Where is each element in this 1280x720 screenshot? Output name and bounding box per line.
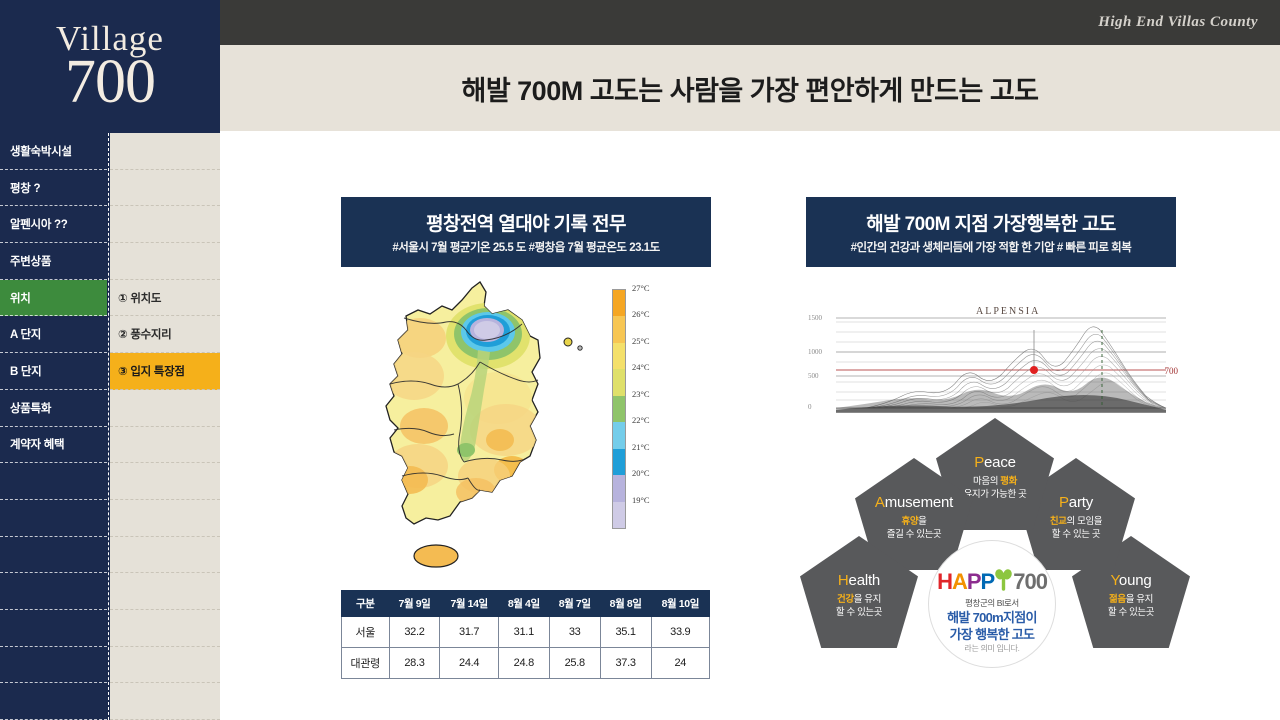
table-cell: 32.2 xyxy=(389,617,440,648)
table-col-header-3: 7월 14일 xyxy=(440,591,498,617)
sidebar-item-empty-10 xyxy=(0,463,107,500)
elevation-svg xyxy=(806,300,1176,418)
legend-swatch-7: 21°C xyxy=(613,449,625,475)
legend-swatch-4: 24°C xyxy=(613,369,625,395)
legend-label-3: 25°C xyxy=(632,336,650,346)
sidebar-item-label: 주변상품 xyxy=(10,253,51,269)
table-row-label: 대관령 xyxy=(342,648,390,679)
sidebar-item-empty-11 xyxy=(0,500,107,537)
logo-letter-p1: P xyxy=(967,571,981,593)
legend-label-4: 24°C xyxy=(632,362,650,372)
legend-swatch-6: 22°C xyxy=(613,422,625,448)
sidebar-subitem-label: ③ 입지 특장점 xyxy=(118,363,185,379)
table-cell: 24 xyxy=(651,648,709,679)
table-col-header-6: 8월 8일 xyxy=(600,591,651,617)
sidebar-item-label: 위치 xyxy=(10,290,31,306)
sidebar-subitem-empty-15 xyxy=(110,647,220,684)
happy700-main-line2: 가장 행복한 고도 xyxy=(950,627,1035,643)
sidebar-sub-panel: ① 위치도② 풍수지리③ 입지 특장점 xyxy=(110,133,220,720)
pentagon-peace-title: Peace xyxy=(974,454,1016,471)
legend-label-1: 27°C xyxy=(632,283,650,293)
legend-swatch-9: 19°C xyxy=(613,502,625,528)
legend-swatch-3: 25°C xyxy=(613,343,625,369)
elevation-ytick-1000: 1000 xyxy=(808,348,822,356)
panel-right-subtitle: #인간의 건강과 생체리듬에 가장 적합 한 기압 # 빠른 피로 회복 xyxy=(851,239,1132,255)
panel-right-title: 해발 700M 지점 가장행복한 고도 xyxy=(866,209,1116,236)
logo[interactable]: Village 700 xyxy=(0,0,220,133)
pentagon-health-description: 건강을 유지할 수 있는곳 xyxy=(836,594,882,620)
pentagon-party-title: Party xyxy=(1059,494,1093,511)
panel-right-header: 해발 700M 지점 가장행복한 고도 #인간의 건강과 생체리듬에 가장 적합… xyxy=(806,197,1176,267)
sidebar-subitem-empty-16 xyxy=(110,683,220,720)
sidebar-item-label: A 단지 xyxy=(10,326,41,342)
sidebar-item-3[interactable]: 알펜시아 ?? xyxy=(0,206,107,243)
sidebar-subitem-empty-3 xyxy=(110,206,220,243)
logo-letter-h: H xyxy=(937,571,952,593)
sidebar-subitem-label: ② 풍수지리 xyxy=(118,326,171,342)
legend-label-9: 19°C xyxy=(632,495,650,505)
elevation-ytick-1500: 1500 xyxy=(808,314,822,322)
sidebar-item-empty-16 xyxy=(0,683,107,720)
sidebar-subitem-6[interactable]: ② 풍수지리 xyxy=(110,316,220,353)
map-ulleungdo-island xyxy=(564,338,572,346)
legend-label-2: 26°C xyxy=(632,309,650,319)
legend-label-7: 21°C xyxy=(632,442,650,452)
legend-swatch-8: 20°C xyxy=(613,475,625,501)
map-dokdo-island xyxy=(578,346,582,350)
brand-tagline: High End Villas County xyxy=(1098,14,1258,31)
legend-swatch-5: 23°C xyxy=(613,396,625,422)
pentagon-young-title: Young xyxy=(1110,572,1151,589)
table-row-label: 서울 xyxy=(342,617,390,648)
logo-letter-a: A xyxy=(952,571,967,593)
happy700-footnote: 라는 의미 입니다. xyxy=(964,643,1019,654)
temperature-table: 구분7월 9일7월 14일8월 4일8월 7일8월 8일8월 10일 서울32.… xyxy=(341,590,710,679)
table-cell: 25.8 xyxy=(549,648,600,679)
sidebar-item-4[interactable]: 주변상품 xyxy=(0,243,107,280)
table-col-header-2: 7월 9일 xyxy=(389,591,440,617)
sidebar-subitem-5[interactable]: ① 위치도 xyxy=(110,280,220,317)
table-cell: 31.7 xyxy=(440,617,498,648)
table-col-header-1: 구분 xyxy=(342,591,390,617)
sidebar-item-9[interactable]: 계약자 혜택 xyxy=(0,427,107,464)
sidebar-subitem-empty-2 xyxy=(110,170,220,207)
pentagon-peace-description: 마음의 평화유지가 가능한 곳 xyxy=(964,476,1027,502)
table-col-header-5: 8월 7일 xyxy=(549,591,600,617)
legend-label-6: 22°C xyxy=(632,415,650,425)
sidebar-item-empty-15 xyxy=(0,647,107,684)
slide-root: ① 위치도② 풍수지리③ 입지 특장점 생활숙박시설평창 ?알펜시아 ??주변상… xyxy=(0,0,1280,720)
page-title: 해발 700M 고도는 사람을 가장 편안하게 만드는 고도 xyxy=(461,69,1038,108)
sidebar-subitem-label: ① 위치도 xyxy=(118,290,161,306)
table-cell: 24.8 xyxy=(498,648,549,679)
top-bar: High End Villas County xyxy=(220,0,1280,45)
legend-label-5: 23°C xyxy=(632,389,650,399)
happy700-logo: H A P P 700 xyxy=(937,569,1047,595)
legend-swatch-2: 26°C xyxy=(613,316,625,342)
happy700-pentagon-diagram: Young젊음을 유지할 수 있는곳Party친교의 모임을할 수 있는 곳Pe… xyxy=(800,418,1190,680)
sidebar-subitem-empty-13 xyxy=(110,573,220,610)
table-cell: 35.1 xyxy=(600,617,651,648)
sidebar-item-1[interactable]: 생활숙박시설 xyxy=(0,133,107,170)
map-jeju-island xyxy=(414,545,458,567)
table-cell: 33.9 xyxy=(651,617,709,648)
happy700-center-badge: H A P P 700 평창군의 BI로서 해발 700m지점이 가장 행복한 … xyxy=(928,540,1056,668)
legend-swatch-1: 27°C xyxy=(613,290,625,316)
pentagon-young-description: 젊음을 유지할 수 있는곳 xyxy=(1108,594,1154,620)
sidebar-divider-dashed xyxy=(108,133,109,720)
logo-700-text: 700 xyxy=(65,54,155,111)
logo-letter-p2: P xyxy=(981,571,995,593)
sidebar-item-label: B 단지 xyxy=(10,363,41,379)
sidebar-subitem-empty-14 xyxy=(110,610,220,647)
panel-left-subtitle: #서울시 7월 평균기온 25.5 도 #평창읍 7월 평균온도 23.1도 xyxy=(392,239,659,255)
sidebar-nav-list: 생활숙박시설평창 ?알펜시아 ??주변상품위치A 단지B 단지상품특화계약자 혜… xyxy=(0,133,107,720)
table-cell: 31.1 xyxy=(498,617,549,648)
logo-number-700: 700 xyxy=(1013,571,1047,593)
elevation-profile-chart: ALPENSIA 700 1500 1000 500 0 xyxy=(806,300,1176,418)
table-cell: 33 xyxy=(549,617,600,648)
happy700-main-line1: 해발 700m지점이 xyxy=(947,610,1037,626)
sidebar-item-label: 생활숙박시설 xyxy=(10,143,72,159)
table-col-header-4: 8월 4일 xyxy=(498,591,549,617)
sidebar-item-8[interactable]: 상품특화 xyxy=(0,390,107,427)
panel-left-header: 평창전역 열대야 기록 전무 #서울시 7월 평균기온 25.5 도 #평창읍 … xyxy=(341,197,711,267)
title-bar: 해발 700M 고도는 사람을 가장 편안하게 만드는 고도 xyxy=(220,45,1280,131)
panel-left-title: 평창전역 열대야 기록 전무 xyxy=(426,209,626,236)
table-col-header-7: 8월 10일 xyxy=(651,591,709,617)
table-cell: 24.4 xyxy=(440,648,498,679)
pentagon-amusement-description: 휴양을즐길 수 있는곳 xyxy=(887,516,942,542)
alpensia-label: ALPENSIA xyxy=(976,306,1040,317)
sidebar-item-6[interactable]: A 단지 xyxy=(0,316,107,353)
sidebar-item-7[interactable]: B 단지 xyxy=(0,353,107,390)
korea-map-svg xyxy=(380,280,600,580)
sidebar-subitem-7[interactable]: ③ 입지 특장점 xyxy=(110,353,220,390)
elevation-ytick-500: 500 xyxy=(808,372,819,380)
pentagon-health-title: Health xyxy=(838,572,880,589)
sidebar-item-label: 알펜시아 ?? xyxy=(10,216,67,232)
table-header-row: 구분7월 9일7월 14일8월 4일8월 7일8월 8일8월 10일 xyxy=(342,591,710,617)
sidebar-subitem-empty-9 xyxy=(110,427,220,464)
sidebar-item-empty-12 xyxy=(0,537,107,574)
sidebar-item-label: 계약자 혜택 xyxy=(10,436,64,452)
sidebar-item-empty-13 xyxy=(0,573,107,610)
sidebar-subitem-empty-4 xyxy=(110,243,220,280)
table-row: 대관령28.324.424.825.837.324 xyxy=(342,648,710,679)
sidebar-subitem-empty-11 xyxy=(110,500,220,537)
sprout-icon xyxy=(995,569,1012,595)
sidebar-item-label: 상품특화 xyxy=(10,400,51,416)
sidebar-subitem-empty-12 xyxy=(110,537,220,574)
sidebar-subitem-empty-1 xyxy=(110,133,220,170)
elevation-ytick-0: 0 xyxy=(808,403,812,411)
elevation-700-label: 700 xyxy=(1165,366,1179,376)
pentagon-amusement-title: Amusement xyxy=(875,494,953,511)
pentagon-party-description: 친교의 모임을할 수 있는 곳 xyxy=(1050,516,1102,542)
sidebar-subitem-empty-10 xyxy=(110,463,220,500)
sidebar-subitem-empty-8 xyxy=(110,390,220,427)
korea-temperature-map xyxy=(380,280,600,580)
sidebar-item-empty-14 xyxy=(0,610,107,647)
sidebar-item-5[interactable]: 위치 xyxy=(0,280,107,317)
alpensia-marker-dot xyxy=(1030,366,1038,374)
table-cell: 37.3 xyxy=(600,648,651,679)
table-row: 서울32.231.731.13335.133.9 xyxy=(342,617,710,648)
sidebar-item-2[interactable]: 평창 ? xyxy=(0,170,107,207)
sidebar-item-label: 평창 ? xyxy=(10,180,40,196)
legend-label-8: 20°C xyxy=(632,468,650,478)
happy700-sub-caption: 평창군의 BI로서 xyxy=(965,597,1019,609)
table-cell: 28.3 xyxy=(389,648,440,679)
temperature-legend: 27°C26°C25°C24°C23°C22°C21°C20°C19°C xyxy=(612,289,626,529)
